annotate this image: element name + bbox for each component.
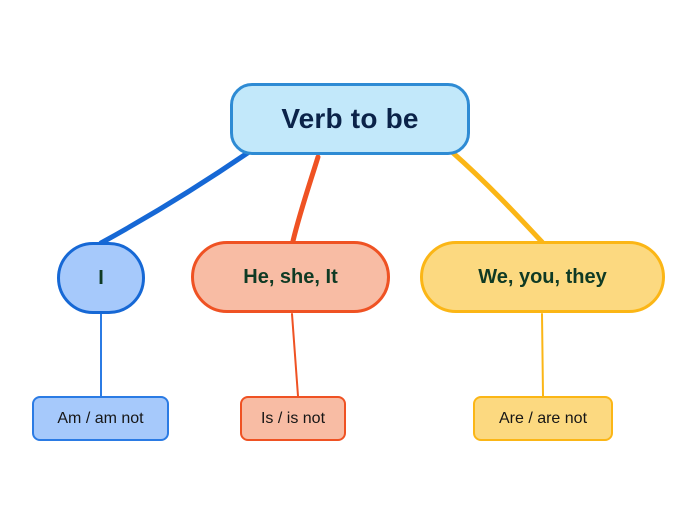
leaf-node-am-am-not[interactable]: Am / am not bbox=[32, 396, 169, 441]
leaf-node-are-are-not[interactable]: Are / are not bbox=[473, 396, 613, 441]
connector-third-person-to-leaf bbox=[292, 314, 298, 396]
connector-root-to-plural bbox=[452, 152, 542, 242]
leaf-node-is-is-not[interactable]: Is / is not bbox=[240, 396, 346, 441]
mind-map-canvas: Verb to be I He, she, It We, you, they A… bbox=[0, 0, 696, 520]
connector-root-to-first-person bbox=[101, 152, 249, 243]
connector-plural-to-leaf bbox=[542, 314, 543, 396]
branch-node-first-person[interactable]: I bbox=[57, 242, 145, 314]
branch-node-third-person-singular[interactable]: He, she, It bbox=[191, 241, 390, 313]
connector-root-to-third-person bbox=[293, 157, 318, 241]
branch-node-plural[interactable]: We, you, they bbox=[420, 241, 665, 313]
root-node-verb-to-be[interactable]: Verb to be bbox=[230, 83, 470, 155]
